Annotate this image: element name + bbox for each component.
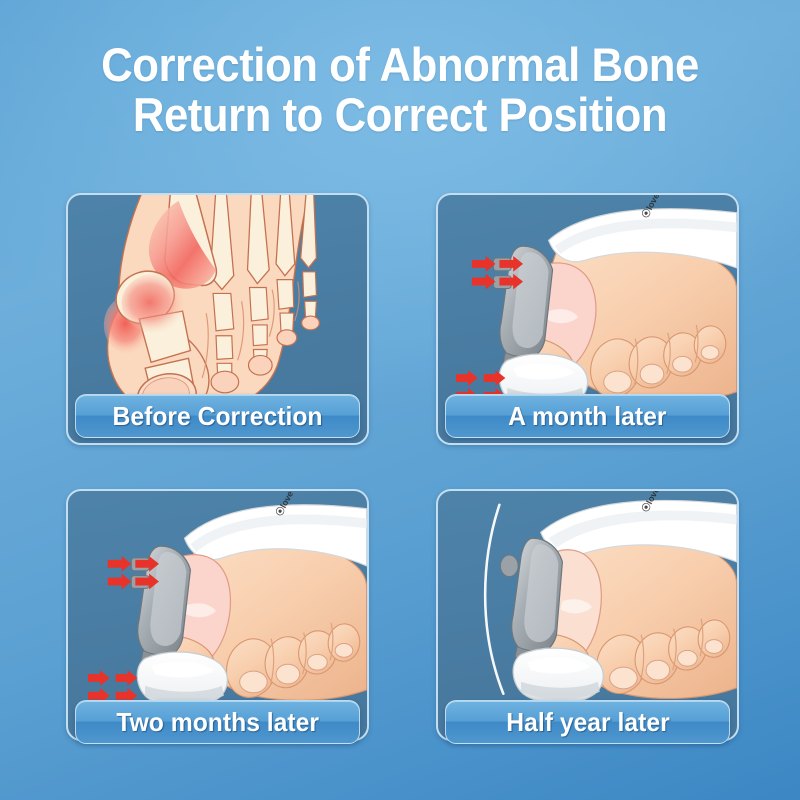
panel-label-before-correction: Before Correction [112, 401, 322, 432]
title-line-2: Return to Correct Position [28, 90, 772, 140]
panel-label-two-months-later: Two months later [116, 707, 319, 738]
label-bar-before-correction[interactable]: Before Correction [75, 394, 360, 438]
title-line-1: Correction of Abnormal Bone [28, 40, 772, 90]
panel-label-a-month-later: A month later [508, 401, 666, 432]
alignment-guide-line [485, 505, 503, 694]
label-bar-a-month-later[interactable]: A month later [445, 394, 730, 438]
label-bar-half-year-later[interactable]: Half year later [445, 700, 730, 744]
label-bar-two-months-later[interactable]: Two months later [75, 700, 360, 744]
pressure-arrows-lower [88, 670, 137, 703]
panel-label-half-year-later: Half year later [506, 707, 669, 738]
device-white-strap [513, 648, 603, 704]
page-title: Correction of Abnormal Bone Return to Co… [28, 40, 772, 140]
